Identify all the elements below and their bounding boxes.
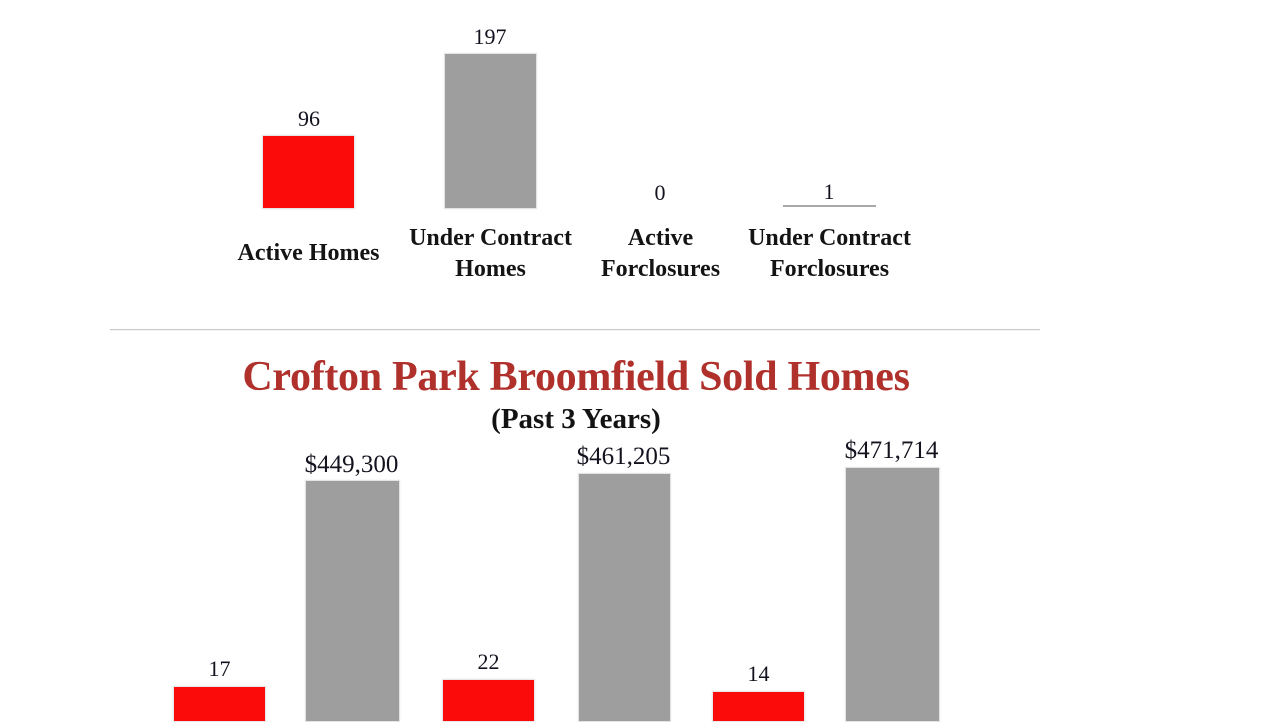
bottom-count-label-year2: 22 bbox=[442, 651, 535, 673]
bottom-bar-count-year2 bbox=[442, 679, 535, 722]
bottom-price-label-year1: $449,300 bbox=[303, 452, 400, 477]
top-category-label-under-contract-homes-line1: Under Contract bbox=[409, 225, 572, 251]
top-bar-active-homes bbox=[262, 135, 355, 209]
bottom-bar-count-year1 bbox=[173, 686, 266, 722]
top-bar-value-label-under-contract-homes: 197 bbox=[444, 26, 536, 48]
top-category-label-under-contract-forclosures-line2: Forclosures bbox=[770, 256, 889, 282]
top-bar-under-contract-forclosures bbox=[783, 205, 876, 207]
top-chart: 96 197 0 1 Active Homes Under Contract H… bbox=[0, 0, 1280, 330]
bottom-chart: Crofton Park Broomfield Sold Homes (Past… bbox=[0, 330, 1280, 720]
top-category-label-under-contract-forclosures: Under Contract Forclosures bbox=[727, 223, 932, 285]
bottom-chart-subtitle: (Past 3 Years) bbox=[0, 402, 1152, 436]
top-category-label-active-homes-line1: Active Homes bbox=[238, 240, 380, 266]
top-category-label-under-contract-forclosures-line1: Under Contract bbox=[748, 225, 911, 251]
top-bar-under-contract-homes bbox=[444, 53, 537, 209]
bottom-chart-title: Crofton Park Broomfield Sold Homes bbox=[0, 353, 1152, 401]
top-bar-value-label-active-forclosures: 0 bbox=[614, 182, 706, 204]
top-category-label-active-homes: Active Homes bbox=[206, 238, 411, 269]
top-category-label-active-forclosures-line2: Forclosures bbox=[601, 256, 720, 282]
market-stats-slide: 96 197 0 1 Active Homes Under Contract H… bbox=[0, 0, 1280, 720]
bottom-bar-price-year1 bbox=[305, 480, 400, 722]
bottom-bar-price-year2 bbox=[578, 473, 671, 722]
top-bar-value-label-under-contract-forclosures: 1 bbox=[783, 181, 875, 203]
bottom-bar-count-year3 bbox=[712, 691, 805, 722]
bottom-count-label-year1: 17 bbox=[173, 658, 266, 680]
bottom-price-label-year2: $461,205 bbox=[575, 444, 672, 469]
bottom-bar-price-year3 bbox=[845, 467, 940, 722]
top-category-label-active-forclosures-line1: Active bbox=[628, 225, 693, 251]
bottom-price-label-year3: $471,714 bbox=[843, 438, 940, 463]
top-category-label-under-contract-homes-line2: Homes bbox=[455, 256, 526, 282]
top-bar-value-label-active-homes: 96 bbox=[263, 108, 355, 130]
bottom-count-label-year3: 14 bbox=[712, 663, 805, 685]
